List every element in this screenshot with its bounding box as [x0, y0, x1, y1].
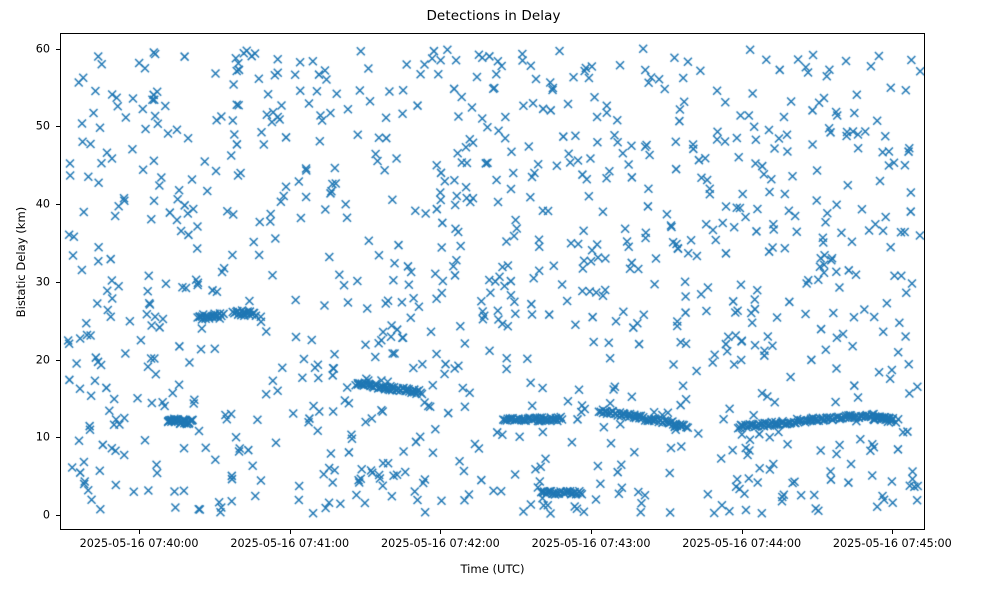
x-tick-mark [139, 530, 140, 534]
x-tick-label: 2025-05-16 07:45:00 [833, 537, 952, 550]
x-axis-label: Time (UTC) [60, 562, 925, 576]
x-tick-label: 2025-05-16 07:40:00 [80, 537, 199, 550]
scatter-plot-canvas [61, 34, 925, 530]
x-tick-mark [892, 530, 893, 534]
y-tick-label: 50 [0, 120, 50, 133]
x-tick-label: 2025-05-16 07:44:00 [682, 537, 801, 550]
x-tick-mark [591, 530, 592, 534]
x-tick-label: 2025-05-16 07:41:00 [230, 537, 349, 550]
y-tick-label: 10 [0, 431, 50, 444]
page-title: Detections in Delay [0, 8, 987, 24]
y-tick-mark [56, 360, 60, 361]
plot-area [60, 33, 925, 530]
chart-figure: Detections in Delay 2025-05-16 07:40:002… [0, 0, 987, 590]
x-tick-label: 2025-05-16 07:43:00 [532, 537, 651, 550]
y-tick-mark [56, 515, 60, 516]
y-tick-mark [56, 437, 60, 438]
y-tick-mark [56, 282, 60, 283]
x-tick-mark [440, 530, 441, 534]
y-tick-label: 0 [0, 509, 50, 522]
y-axis-label: Bistatic Delay (km) [14, 132, 28, 392]
x-tick-label: 2025-05-16 07:42:00 [381, 537, 500, 550]
x-tick-mark [742, 530, 743, 534]
y-tick-mark [56, 204, 60, 205]
y-tick-mark [56, 49, 60, 50]
y-tick-mark [56, 126, 60, 127]
y-tick-label: 60 [0, 42, 50, 55]
x-tick-mark [290, 530, 291, 534]
